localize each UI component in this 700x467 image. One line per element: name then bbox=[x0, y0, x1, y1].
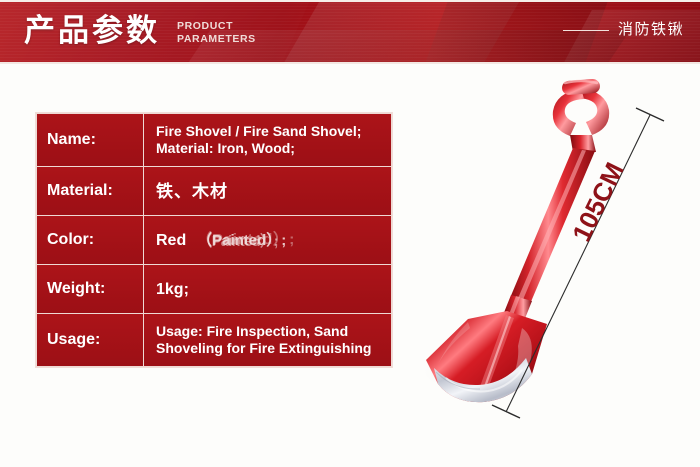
banner-facet-2 bbox=[245, 0, 555, 64]
table-row: Material: 铁、木材 bbox=[37, 167, 392, 216]
shovel-d-handle bbox=[553, 79, 609, 152]
spec-key-material: Material: bbox=[37, 167, 144, 216]
spec-value-weight: 1kg; bbox=[144, 265, 392, 314]
horizontal-rule-icon bbox=[563, 30, 609, 31]
spec-key-name: Name: bbox=[37, 114, 144, 167]
shovel-blade bbox=[426, 311, 547, 402]
spec-value-material: 铁、木材 bbox=[144, 167, 392, 216]
page-subtitle: PRODUCT PARAMETERS bbox=[177, 20, 256, 46]
page-subtitle-line-1: PRODUCT bbox=[177, 20, 256, 33]
spec-value-name-line-1: Fire Shovel / Fire Sand Shovel; bbox=[156, 123, 383, 140]
spec-value-color-prefix: Red bbox=[156, 232, 186, 249]
table-row: Color: Red （Painted）; （Painted）; （Painte… bbox=[37, 216, 392, 265]
spec-value-name: Fire Shovel / Fire Sand Shovel; Material… bbox=[144, 114, 392, 167]
spec-value-color: Red （Painted）; （Painted）; （Painted）; bbox=[144, 216, 392, 265]
table-row: Usage: Usage: Fire Inspection, Sand Shov… bbox=[37, 314, 392, 367]
table-row: Name: Fire Shovel / Fire Sand Shovel; Ma… bbox=[37, 114, 392, 167]
spec-key-weight: Weight: bbox=[37, 265, 144, 314]
product-image-area bbox=[410, 72, 700, 442]
page-title: 产品参数 bbox=[24, 9, 160, 53]
spec-value-color-painted-layer-3: （Painted）; bbox=[196, 231, 295, 248]
spec-value-usage: Usage: Fire Inspection, Sand Shoveling f… bbox=[144, 314, 392, 367]
banner-right-group: 消防铁锹 bbox=[563, 20, 684, 40]
product-spec-table: Name: Fire Shovel / Fire Sand Shovel; Ma… bbox=[36, 113, 392, 367]
spec-key-color: Color: bbox=[37, 216, 144, 265]
table-row: Weight: 1kg; bbox=[37, 265, 392, 314]
product-category-label: 消防铁锹 bbox=[618, 20, 684, 40]
spec-value-usage-line-2: Shoveling for Fire Extinguishing bbox=[156, 340, 383, 357]
spec-key-usage: Usage: bbox=[37, 314, 144, 367]
spec-value-usage-line-1: Usage: Fire Inspection, Sand bbox=[156, 323, 383, 340]
fire-shovel-photo bbox=[410, 72, 700, 442]
spec-value-color-painted: （Painted）; （Painted）; （Painted）; bbox=[197, 232, 286, 249]
page-header-banner: 产品参数 PRODUCT PARAMETERS 消防铁锹 bbox=[0, 0, 700, 64]
page-subtitle-line-2: PARAMETERS bbox=[177, 33, 256, 46]
spec-value-name-line-2: Material: Iron, Wood; bbox=[156, 140, 383, 157]
